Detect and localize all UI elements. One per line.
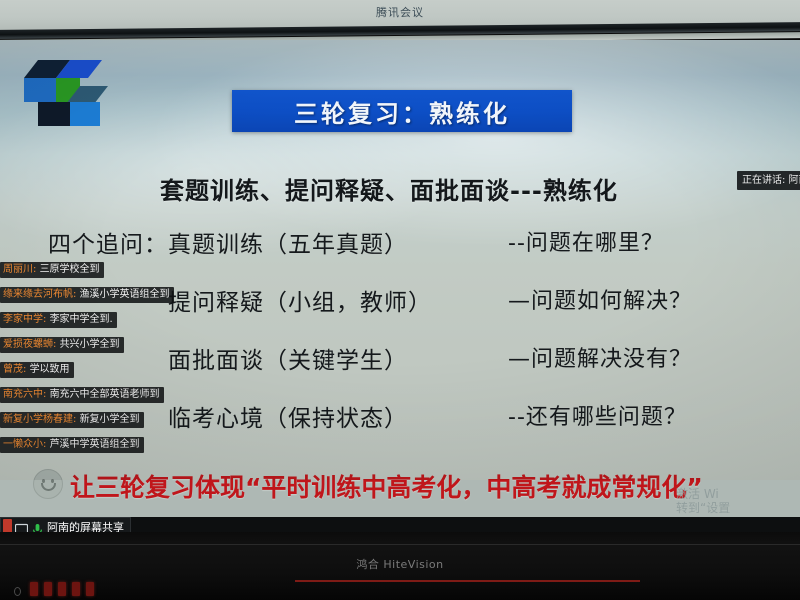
- chat-sender: 李家中学:: [3, 314, 46, 325]
- chat-message: 爱损夜螺蛳: 共兴小学全到: [0, 337, 124, 353]
- active-speaker-label: 正在讲话: 阿南: [737, 171, 800, 190]
- chat-text: 南充六中全部英语老师到: [50, 389, 160, 400]
- bezel-divider: [0, 544, 800, 545]
- screen-share-bar: 阿南的屏幕共享: [0, 517, 800, 532]
- led: [44, 582, 52, 596]
- row-topic: 面批面谈（关键学生）: [168, 341, 408, 375]
- chat-message: 周丽川: 三原学校全到: [0, 262, 104, 278]
- screenshot-root: 腾讯会议 三轮复习：熟练化: [0, 0, 800, 600]
- chat-text: 共兴小学全到: [60, 339, 120, 350]
- stop-share-icon[interactable]: [3, 519, 12, 532]
- monitor-share-icon[interactable]: [15, 521, 28, 533]
- row-topic: 临考心境（保持状态）: [168, 399, 408, 433]
- chat-sender: 一懒众小:: [3, 439, 46, 450]
- screen-share-chip[interactable]: 阿南的屏幕共享: [0, 517, 131, 532]
- row-question: --问题在哪里？: [508, 225, 664, 257]
- chat-text: 学以致用: [30, 364, 70, 375]
- chat-message-list: 周丽川: 三原学校全到 缘来缘去河布帆: 渔溪小学英语组全到 李家中学: 李家中…: [0, 257, 175, 457]
- chat-message: 新复小学杨春建: 新复小学全到: [0, 412, 144, 428]
- slide-title-banner: 三轮复习：熟练化: [232, 90, 572, 132]
- row-topic: 真题训练（五年真题）: [168, 225, 408, 259]
- screen-area: 三轮复习：熟练化 套题训练、提问释疑、面批面谈---熟练化 四个追问： 真题训练…: [0, 40, 800, 532]
- monitor-bottom-bezel: 鸿合 HiteVision: [0, 532, 800, 600]
- cube-logo-icon: [8, 56, 108, 128]
- led: [72, 582, 80, 596]
- windows-activation-watermark: 激活 Wi 转到“设置: [676, 487, 796, 515]
- monitor-brand-label: 鸿合 HiteVision: [0, 556, 800, 572]
- chat-text: 芦溪中学英语组全到: [50, 439, 140, 450]
- watermark-line-1: 激活 Wi: [676, 487, 796, 501]
- row-question: —问题如何解决？: [508, 283, 692, 315]
- row-topic: 提问释疑（小组，教师）: [168, 283, 432, 317]
- chat-sender: 缘来缘去河布帆:: [3, 289, 76, 300]
- chat-sender: 爱损夜螺蛳:: [3, 339, 56, 350]
- microphone-icon[interactable]: [31, 521, 44, 533]
- chat-text: 三原学校全到: [40, 264, 100, 275]
- power-button[interactable]: [14, 587, 21, 596]
- share-label: 阿南的屏幕共享: [47, 519, 124, 532]
- led: [30, 582, 38, 596]
- chat-message: 李家中学: 李家中学全到.: [0, 312, 117, 328]
- chat-message: 曾茂: 学以致用: [0, 362, 74, 378]
- row-question: --还有哪些问题？: [508, 399, 687, 431]
- chat-sender: 曾茂:: [3, 364, 26, 375]
- indicator-leds: [30, 582, 94, 596]
- led: [86, 582, 94, 596]
- chat-text: 新复小学全到: [80, 414, 140, 425]
- ir-sensor-bar: [295, 580, 640, 582]
- presentation-slide: 三轮复习：熟练化 套题训练、提问释疑、面批面谈---熟练化 四个追问： 真题训练…: [0, 40, 800, 480]
- slide-title: 三轮复习：熟练化: [294, 94, 510, 129]
- window-title: 腾讯会议: [0, 4, 800, 20]
- chat-text: 李家中学全到.: [50, 314, 113, 325]
- chat-message: 一懒众小: 芦溪中学英语组全到: [0, 437, 144, 453]
- row-question: —问题解决没有？: [508, 341, 692, 373]
- chat-sender: 周丽川:: [3, 264, 36, 275]
- watermark-line-2: 转到“设置: [676, 501, 796, 515]
- slide-slogan: 让三轮复习体现“平时训练中高考化，中高考就成常规化”: [70, 468, 703, 504]
- slide-headline: 套题训练、提问释疑、面批面谈---熟练化: [160, 171, 618, 206]
- chat-message: 南充六中: 南充六中全部英语老师到: [0, 387, 164, 403]
- chat-text: 渔溪小学英语组全到: [80, 289, 170, 300]
- smiley-face-icon: [33, 469, 63, 499]
- chat-message: 缘来缘去河布帆: 渔溪小学英语组全到: [0, 287, 174, 303]
- row-lead: 四个追问：: [48, 225, 168, 259]
- chat-sender: 南充六中:: [3, 389, 46, 400]
- led: [58, 582, 66, 596]
- chat-sender: 新复小学杨春建:: [3, 414, 76, 425]
